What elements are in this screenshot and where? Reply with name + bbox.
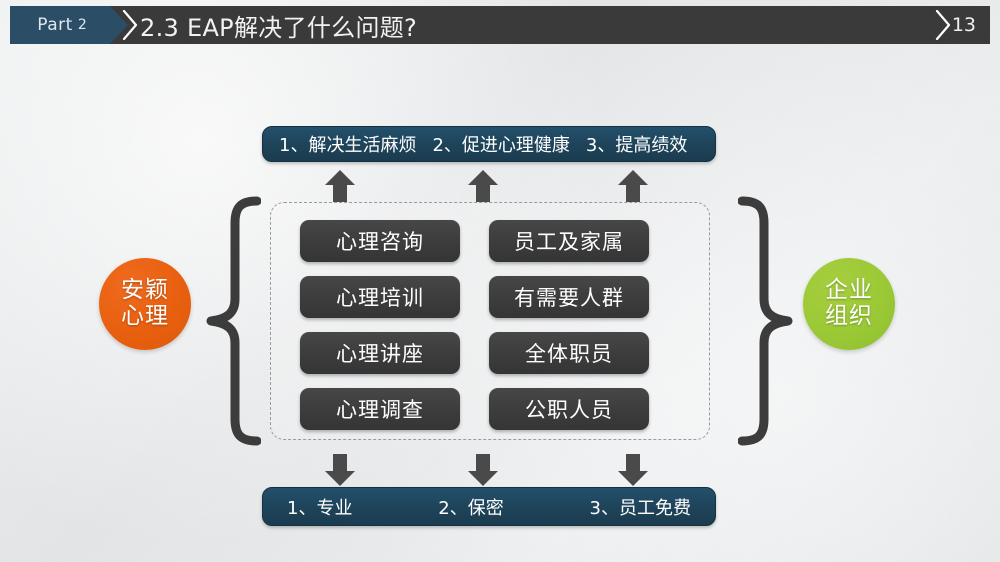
- provider-badge-line-1: 安颖: [121, 278, 169, 304]
- audience-box-3[interactable]: 全体职员: [489, 332, 649, 374]
- service-box-2[interactable]: 心理培训: [300, 276, 460, 318]
- audience-box-2-label: 有需要人群: [514, 282, 624, 312]
- chevron-right-icon: [122, 10, 138, 40]
- service-box-3-label: 心理讲座: [336, 338, 424, 368]
- audience-box-2[interactable]: 有需要人群: [489, 276, 649, 318]
- part-label: Part: [37, 15, 73, 35]
- audience-box-1-label: 员工及家属: [514, 226, 624, 256]
- outcome-2: 2、促进心理健康: [432, 131, 569, 157]
- right-curly-brace: [738, 195, 794, 447]
- chevron-right-icon-end: [935, 10, 951, 40]
- arrow-down-icon: [615, 452, 651, 488]
- client-badge-line-1: 企业: [825, 278, 873, 304]
- audience-box-3-label: 全体职员: [525, 338, 613, 368]
- outcome-3: 3、提高绩效: [586, 131, 687, 157]
- outcomes-bar: 1、解决生活麻烦 2、促进心理健康 3、提高绩效: [262, 126, 716, 162]
- service-box-3[interactable]: 心理讲座: [300, 332, 460, 374]
- principle-3: 3、员工免费: [590, 494, 691, 520]
- service-box-2-label: 心理培训: [336, 282, 424, 312]
- arrow-down-icon: [465, 452, 501, 488]
- arrow-up-icon: [465, 168, 501, 204]
- part-number: 2: [78, 17, 87, 33]
- service-box-4-label: 心理调查: [336, 394, 424, 424]
- principle-1: 1、专业: [287, 494, 352, 520]
- provider-badge[interactable]: 安颖 心理: [99, 258, 191, 350]
- arrow-down-icon: [322, 452, 358, 488]
- service-box-1-label: 心理咨询: [336, 226, 424, 256]
- client-badge[interactable]: 企业 组织: [803, 258, 895, 350]
- page-title: 2.3 EAP解决了什么问题?: [140, 6, 417, 44]
- audience-box-4-label: 公职人员: [525, 394, 613, 424]
- part-chip: Part 2: [10, 6, 128, 44]
- audience-box-1[interactable]: 员工及家属: [489, 220, 649, 262]
- principle-2: 2、保密: [438, 494, 503, 520]
- arrow-up-icon: [615, 168, 651, 204]
- provider-badge-line-2: 心理: [121, 304, 169, 330]
- page-number: 13: [952, 6, 976, 44]
- client-badge-line-2: 组织: [825, 304, 873, 330]
- slide-header: Part 2 2.3 EAP解决了什么问题? 13: [10, 6, 990, 44]
- audience-box-4[interactable]: 公职人员: [489, 388, 649, 430]
- outcome-1: 1、解决生活麻烦: [279, 131, 416, 157]
- principles-bar: 1、专业 2、保密 3、员工免费: [262, 487, 716, 526]
- service-box-1[interactable]: 心理咨询: [300, 220, 460, 262]
- slide-canvas: Part 2 2.3 EAP解决了什么问题? 13 1、解决生活麻烦 2、促进心…: [0, 0, 1000, 562]
- left-curly-brace: [205, 195, 261, 447]
- arrow-up-icon: [322, 168, 358, 204]
- service-box-4[interactable]: 心理调查: [300, 388, 460, 430]
